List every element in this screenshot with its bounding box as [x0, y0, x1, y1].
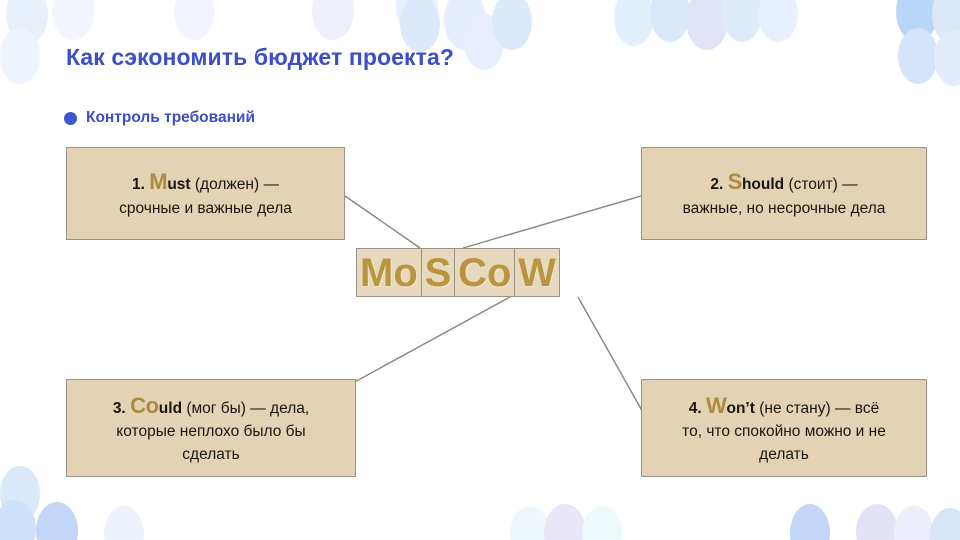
quadrant-initial: M [149, 169, 167, 194]
quadrant-keyword-rest: on’t [727, 400, 755, 417]
quadrant-description-line-3: сделать [182, 444, 239, 466]
quadrant-headline-must: 1. Must (должен) — [132, 166, 279, 198]
connector-should-to-s [463, 196, 641, 248]
quadrant-headline-should: 2. Should (стоит) — [710, 166, 857, 198]
connector-must-to-mo [345, 196, 420, 248]
quadrant-box-must[interactable]: 1. Must (должен) — срочные и важные дела [66, 147, 345, 240]
quadrant-translation: (мог бы) [186, 400, 246, 417]
quadrant-initial: Co [130, 393, 159, 418]
quadrant-dash: — всё [835, 400, 879, 417]
quadrant-dash: — дела, [250, 400, 309, 417]
moscow-cell-mo[interactable]: Mo [356, 248, 422, 297]
quadrant-description-line-2: важные, но несрочные дела [683, 198, 886, 220]
quadrant-description-line-2: то, что спокойно можно и не [682, 421, 886, 443]
quadrant-description-line-3: делать [759, 444, 809, 466]
quadrant-initial: W [706, 393, 726, 418]
moscow-cell-co[interactable]: Co [454, 248, 515, 297]
quadrant-translation: (должен) [195, 176, 259, 193]
quadrant-box-should[interactable]: 2. Should (стоит) — важные, но несрочные… [641, 147, 927, 240]
quadrant-keyword-rest: hould [742, 176, 784, 193]
moscow-acronym: Mo S Co W [356, 248, 560, 297]
quadrant-keyword-rest: ust [167, 176, 190, 193]
quadrant-dash: — [263, 176, 279, 193]
quadrant-initial: S [728, 169, 742, 194]
quadrant-headline-could: 3. Could (мог бы) — дела, [113, 390, 309, 422]
quadrant-box-wont[interactable]: 4. Won’t (не стану) — всё то, что спокой… [641, 379, 927, 477]
moscow-cell-s[interactable]: S [421, 248, 456, 297]
quadrant-description-line-2: срочные и важные дела [119, 198, 292, 220]
connector-w-to-wont [578, 297, 645, 416]
quadrant-translation: (стоит) [788, 176, 837, 193]
quadrant-dash: — [842, 176, 858, 193]
quadrant-number: 1. [132, 176, 145, 193]
quadrant-box-could[interactable]: 3. Could (мог бы) — дела, которые неплох… [66, 379, 356, 477]
quadrant-translation: (не стану) [759, 400, 830, 417]
slide-canvas: Как сэкономить бюджет проекта? Контроль … [0, 0, 960, 540]
quadrant-description-line-2: которые неплохо было бы [116, 421, 305, 443]
quadrant-headline-wont: 4. Won’t (не стану) — всё [689, 390, 879, 422]
quadrant-number: 2. [710, 176, 723, 193]
quadrant-keyword-rest: uld [159, 400, 182, 417]
quadrant-number: 3. [113, 400, 126, 417]
moscow-cell-w[interactable]: W [514, 248, 560, 297]
quadrant-number: 4. [689, 400, 702, 417]
